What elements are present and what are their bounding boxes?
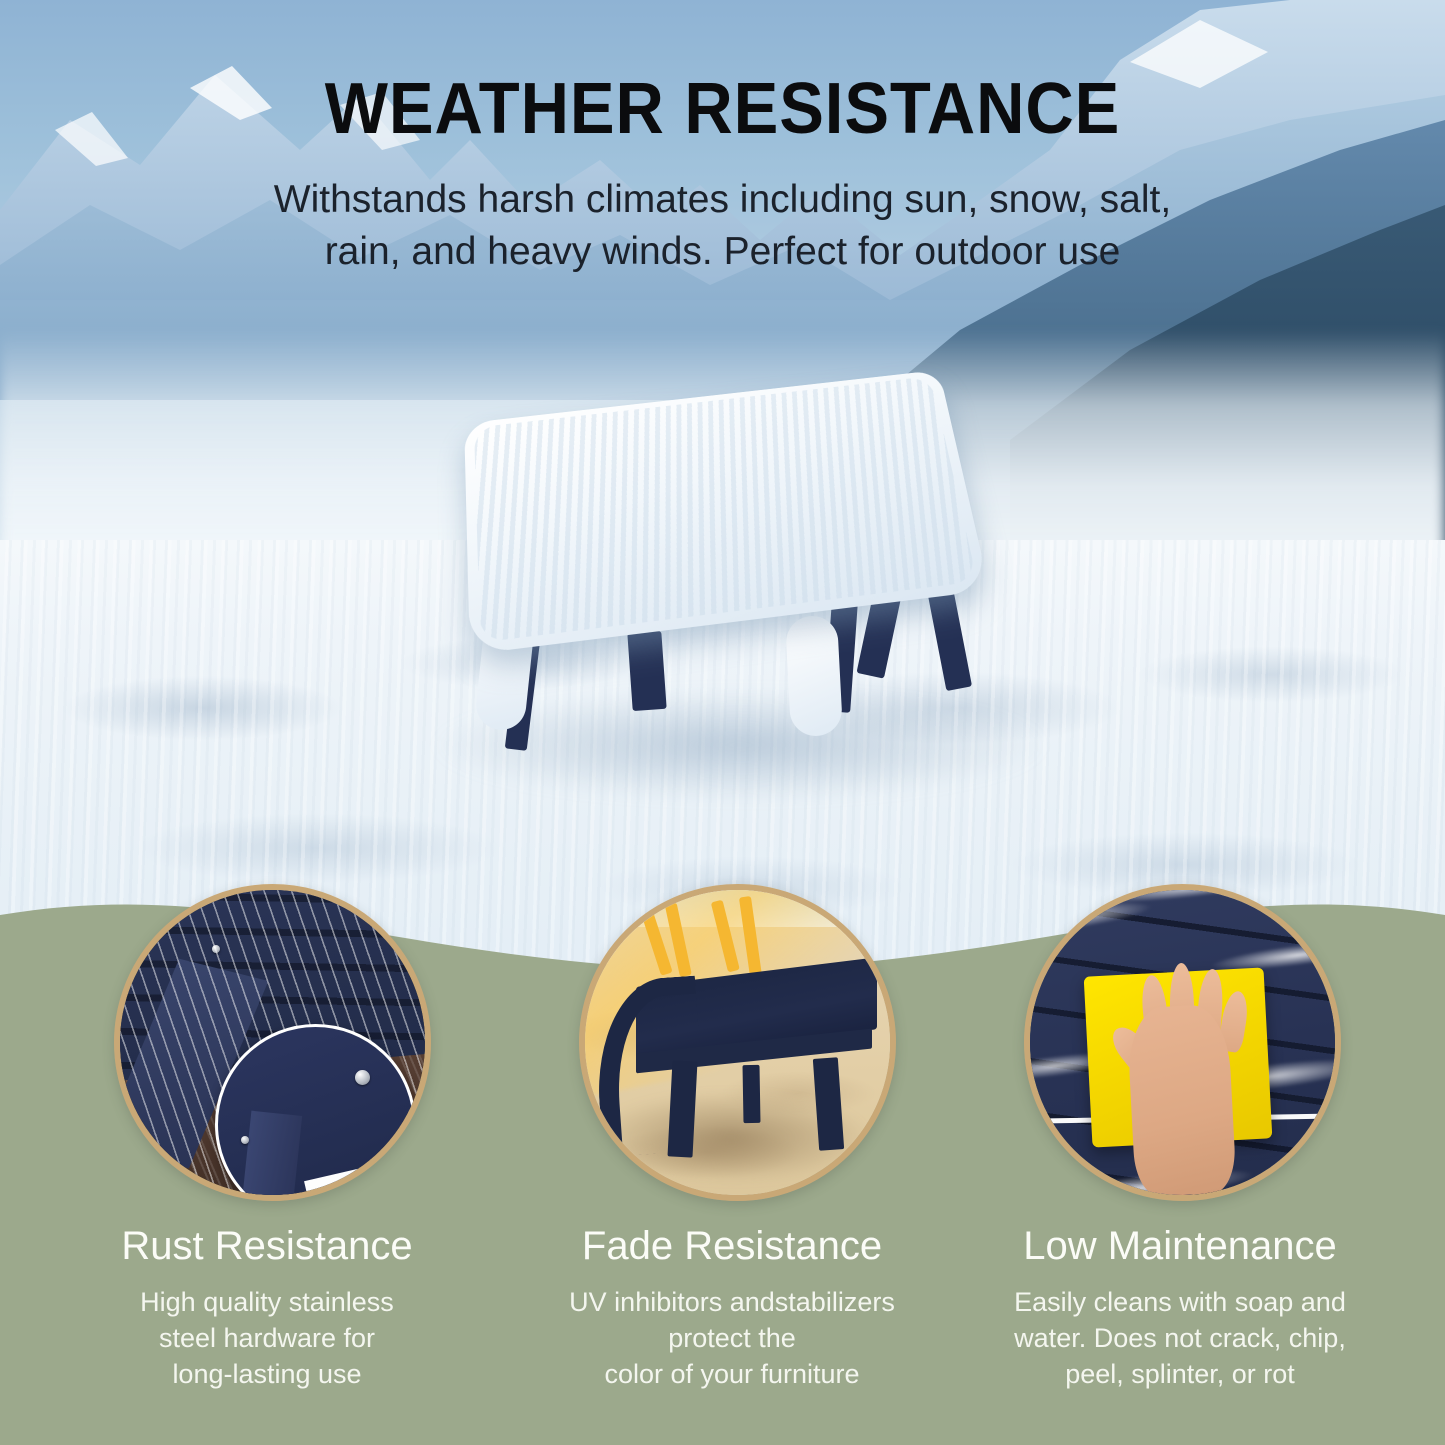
snow-slab-seat: [464, 370, 990, 655]
feature-body-line: long-lasting use: [47, 1356, 487, 1392]
hand: [1126, 1003, 1236, 1197]
feature-body-line: High quality stainless: [47, 1284, 487, 1320]
subtitle-line-2: rain, and heavy winds. Perfect for outdo…: [0, 226, 1445, 278]
feature-body-line: peel, splinter, or rot: [960, 1356, 1400, 1392]
feature-body-line: Easily cleans with soap and: [960, 1284, 1400, 1320]
feature-body-line: UV inhibitors andstabilizers: [512, 1284, 952, 1320]
feature-title-rust-resistance: Rust Resistance: [57, 1224, 477, 1269]
feature-body-rust-resistance: High quality stainless steel hardware fo…: [47, 1284, 487, 1392]
feature-title-fade-resistance: Fade Resistance: [522, 1224, 942, 1269]
feature-body-line: protect the: [512, 1320, 952, 1356]
feature-body-line: color of your furniture: [512, 1356, 952, 1392]
page-title: WEATHER RESISTANCE: [51, 68, 1395, 150]
subtitle-line-1: Withstands harsh climates including sun,…: [0, 174, 1445, 226]
feature-body-line: steel hardware for: [47, 1320, 487, 1356]
page-subtitle: Withstands harsh climates including sun,…: [0, 174, 1445, 278]
feature-body-fade-resistance: UV inhibitors andstabilizers protect the…: [512, 1284, 952, 1392]
feature-body-low-maintenance: Easily cleans with soap and water. Does …: [960, 1284, 1400, 1392]
cleaning-cloth-icon: [1030, 890, 1335, 1195]
feature-image-rust-resistance[interactable]: [114, 884, 431, 1201]
feature-title-low-maintenance: Low Maintenance: [970, 1224, 1390, 1269]
product-feature-poster: WEATHER RESISTANCE Withstands harsh clim…: [0, 0, 1445, 1445]
rain-on-bench-icon: [120, 890, 425, 1195]
sun-on-beach-icon: [585, 890, 890, 1195]
feature-image-fade-resistance[interactable]: [579, 884, 896, 1201]
feature-body-line: water. Does not crack, chip,: [960, 1320, 1400, 1356]
snow-covered-footstool: [440, 380, 1040, 770]
feature-image-low-maintenance[interactable]: [1024, 884, 1341, 1201]
